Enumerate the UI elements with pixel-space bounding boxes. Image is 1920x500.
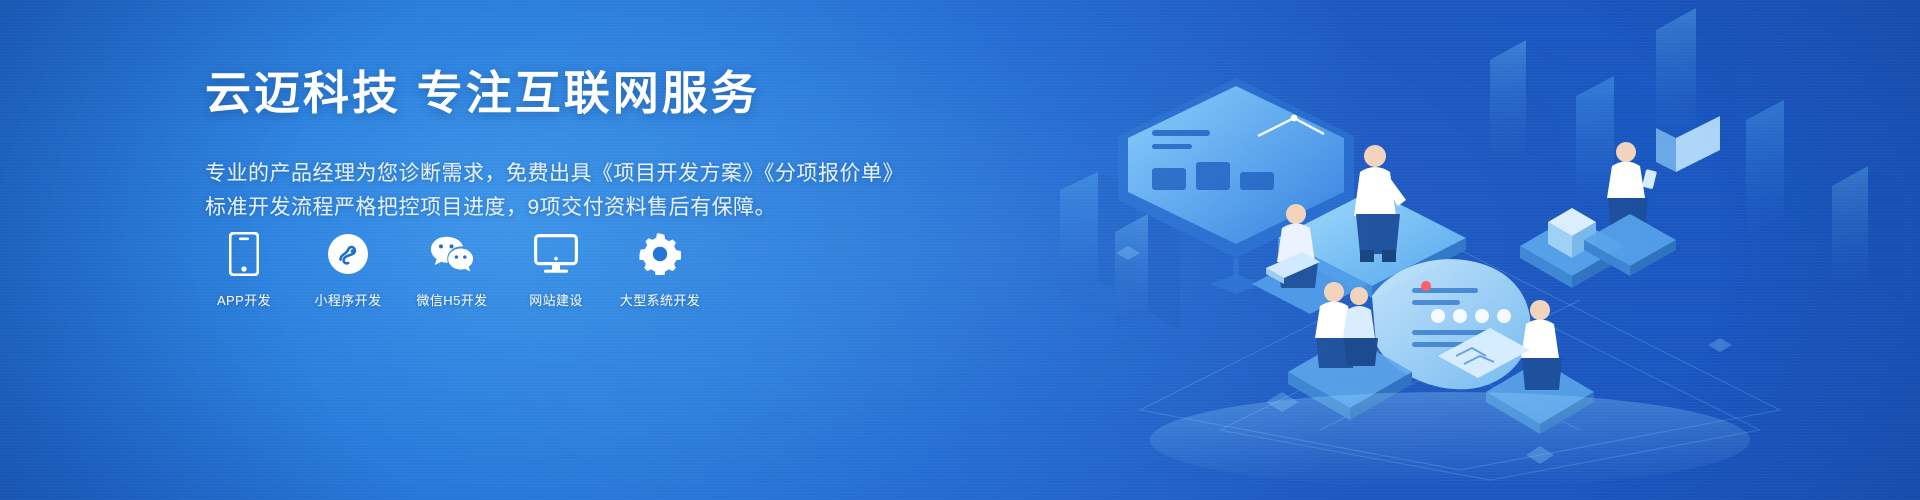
service-item-website[interactable]: 网站建设 — [517, 232, 595, 309]
monitor-icon — [534, 232, 578, 276]
service-item-wechat-h5[interactable]: 微信H5开发 — [413, 232, 491, 309]
mobile-phone-icon — [222, 232, 266, 276]
hero-subtitle: 专业的产品经理为您诊断需求，免费出具《项目开发方案》《分项报价单》 标准开发流程… — [205, 157, 905, 225]
service-item-app[interactable]: APP开发 — [205, 232, 283, 309]
hero-copy: 云迈科技 专注互联网服务 专业的产品经理为您诊断需求，免费出具《项目开发方案》《… — [205, 66, 905, 225]
mini-program-icon — [326, 232, 370, 276]
service-label-miniprogram: 小程序开发 — [314, 290, 381, 309]
service-item-large-system[interactable]: 大型系统开发 — [621, 232, 699, 309]
illustration-isometric-technology — [1020, 0, 1920, 500]
subtitle-line-1: 专业的产品经理为您诊断需求，免费出具《项目开发方案》《分项报价单》 — [205, 157, 905, 191]
service-label-large-system: 大型系统开发 — [620, 290, 700, 309]
service-label-app: APP开发 — [217, 290, 271, 309]
subtitle-line-2: 标准开发流程严格把控项目进度，9项交付资料售后有保障。 — [205, 191, 905, 225]
service-label-website: 网站建设 — [529, 290, 583, 309]
hero-banner: 云迈科技 专注互联网服务 专业的产品经理为您诊断需求，免费出具《项目开发方案》《… — [0, 0, 1920, 500]
wechat-icon — [430, 232, 474, 276]
service-item-miniprogram[interactable]: 小程序开发 — [309, 232, 387, 309]
gear-icon — [638, 232, 682, 276]
service-label-wechat-h5: 微信H5开发 — [416, 290, 487, 309]
service-list: APP开发 小程序开发 — [205, 232, 699, 309]
page-title: 云迈科技 专注互联网服务 — [205, 66, 905, 121]
